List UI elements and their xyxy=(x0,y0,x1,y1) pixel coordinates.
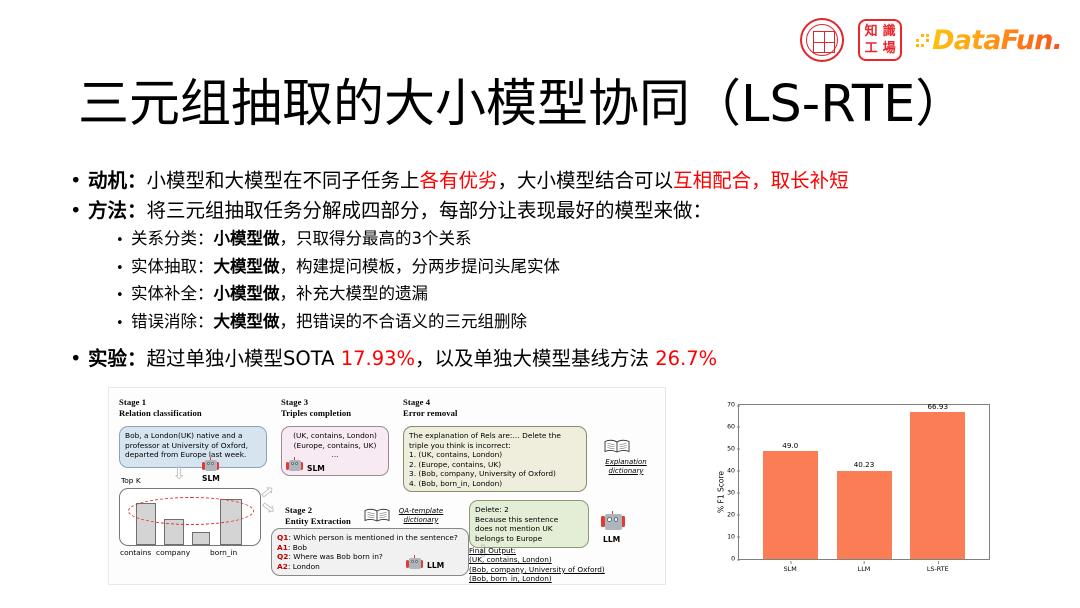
qa-dict-line2: dictionary xyxy=(392,516,450,525)
stage2-qa-0-text: Which person is mentioned in the sentenc… xyxy=(293,533,458,542)
sub-bullet-0-strong: 小模型做 xyxy=(214,229,280,248)
method-sub-list: •关系分类：小模型做，只取得分最高的3个关系 •实体抽取：大模型做，构建提问模板… xyxy=(116,226,1010,336)
qa-template-dictionary-caption: QA-template dictionary xyxy=(392,507,450,524)
stage3-title-line1: Stage 3 xyxy=(281,397,351,408)
bullet-motivation-lead: 动机： xyxy=(88,169,147,192)
chart-ytick-20: 20 xyxy=(727,511,735,518)
stage4-answer-box: Delete: 2 Because this sentence does not… xyxy=(469,500,589,548)
stage3-line-0: (UK, contains, London) xyxy=(287,431,383,441)
sub-bullet-dot-icon: • xyxy=(116,228,131,254)
chart-value-ls-rte: 66.93 xyxy=(927,402,948,411)
pipeline-diagram: Stage 1 Relation classification Bob, a L… xyxy=(108,387,666,585)
stage3-heading: Stage 3 Triples completion xyxy=(281,397,351,418)
chart-bar-ls-rte xyxy=(910,412,965,559)
f1-score-bar-chart: % F1 Score 0 10 20 30 40 50 60 70 49.0 4… xyxy=(694,396,1012,588)
explanation-book-icon xyxy=(604,439,630,454)
final-output-line-1: (Bob, company, University of Oxford) xyxy=(469,565,664,574)
stage3-title-line2: Triples completion xyxy=(281,408,351,419)
fudan-university-seal-icon xyxy=(800,18,844,62)
stage2-qa-2-tag: Q2 xyxy=(277,552,288,561)
page-title: 三元组抽取的大小模型协同（LS-RTE） xyxy=(78,62,966,136)
chart-ytick-60: 60 xyxy=(727,423,735,430)
explanation-dictionary-caption: Explanation dictionary xyxy=(596,458,656,475)
sub-bullet-dot-icon: • xyxy=(116,311,131,337)
zhishi-char-3: 工 xyxy=(865,42,878,55)
sub-bullet-1-strong: 大模型做 xyxy=(214,257,280,276)
bullet-method-seg-0: 将三元组抽取任务分解成四部分，每部分让表现最好的模型来做： xyxy=(147,199,713,222)
chart-xtick-ls-rte: LS-RTE xyxy=(927,565,949,573)
stage4-prompt-0: The explanation of Rels are:… Delete the xyxy=(409,431,581,441)
bullet-experiment-seg-1: 17.93% xyxy=(341,347,415,370)
chart-y-axis-label: % F1 Score xyxy=(717,471,726,513)
sub-bullet-2-strong: 小模型做 xyxy=(214,284,280,303)
stage4-prompt-4: 3. (Bob, company, University of Oxford) xyxy=(409,469,581,479)
bullet-method: •方法：将三元组抽取任务分解成四部分，每部分让表现最好的模型来做： xyxy=(70,196,1010,226)
stage3-slm-robot-icon xyxy=(286,458,303,473)
stage2-qa-1: A1: Bob xyxy=(277,543,463,553)
zhishi-gongchang-logo-icon: 知 識 工 場 xyxy=(858,19,902,61)
topk-bar-panel xyxy=(119,488,261,546)
sub-bullet-error-removal: •错误消除：大模型做，把错误的不合语义的三元组删除 xyxy=(116,309,1010,337)
sub-bullet-dot-icon: • xyxy=(116,256,131,282)
stage1-slm-label: SLM xyxy=(202,474,220,483)
stage1-heading: Stage 1 Relation classification xyxy=(119,397,202,418)
chart-bar-llm xyxy=(837,471,892,560)
sub-bullet-3-label: 错误消除： xyxy=(131,312,214,331)
stage2-heading: Stage 2 Entity Extraction xyxy=(285,505,351,526)
sub-bullet-2-label: 实体补全： xyxy=(131,284,214,303)
bullet-list: •动机：小模型和大模型在不同子任务上各有优劣，大小模型结合可以互相配合，取长补短… xyxy=(70,166,1010,374)
stage4-answer-0: Delete: 2 xyxy=(475,505,583,515)
final-output-title: Final Output: xyxy=(469,546,664,555)
bullet-motivation-seg-2: ，大小模型结合可以 xyxy=(498,169,674,192)
chart-bar-slm xyxy=(763,451,818,559)
explanation-dict-line2: dictionary xyxy=(596,467,656,476)
sub-bullet-relation-classification: •关系分类：小模型做，只取得分最高的3个关系 xyxy=(116,226,1010,254)
bullet-method-lead: 方法： xyxy=(88,199,147,222)
stage4-prompt-5: 4. (Bob, born_in, London) xyxy=(409,479,581,489)
stage4-answer-2: does not mention UK xyxy=(475,524,583,534)
sub-bullet-1-label: 实体抽取： xyxy=(131,257,214,276)
zhishi-char-1: 知 xyxy=(865,25,878,38)
topk-bar-small xyxy=(192,532,210,545)
final-output-line-2: (Bob, born_in, London) xyxy=(469,574,664,583)
stage2-qa-0-tag: Q1 xyxy=(277,533,288,542)
stage2-qa-1-tag: A1 xyxy=(277,543,288,552)
stage2-title-line1: Stage 2 xyxy=(285,505,351,516)
datafun-dots-icon xyxy=(916,34,929,47)
stage2-qa-2-text: Where was Bob born in? xyxy=(293,552,383,561)
stage1-slm-robot-icon xyxy=(202,458,219,473)
stage2-title-line2: Entity Extraction xyxy=(285,516,351,527)
sub-bullet-0-label: 关系分类： xyxy=(131,229,214,248)
zhishi-char-4: 場 xyxy=(883,42,896,55)
logo-row: 知 識 工 場 DataFun. xyxy=(800,18,1062,62)
bullet-experiment: •实验：超过单独小模型SOTA 17.93%，以及单独大模型基线方法 26.7% xyxy=(70,344,1010,374)
sub-bullet-1-rest: ，构建提问模板，分两步提问头尾实体 xyxy=(280,257,561,276)
topk-xlabel-born-in: born_in xyxy=(210,548,237,557)
stage4-prompt-2: 1. (UK, contains, London) xyxy=(409,450,581,460)
stage2-llm-label: LLM xyxy=(427,561,444,570)
sub-bullet-dot-icon: • xyxy=(116,283,131,309)
bullet-motivation-seg-1: 各有优劣 xyxy=(420,169,498,192)
chart-ytick-30: 30 xyxy=(727,489,735,496)
final-output-block: Final Output: (UK, contains, London) (Bo… xyxy=(469,546,664,584)
bullet-dot-icon: • xyxy=(70,196,88,226)
chart-xtick-slm: SLM xyxy=(784,565,797,573)
chart-plot-area: 0 10 20 30 40 50 60 70 49.0 40.23 66.93 … xyxy=(738,404,990,560)
stage4-answer-1: Because this sentence xyxy=(475,515,583,525)
chart-ytick-0: 0 xyxy=(731,556,735,563)
bullet-experiment-seg-3: 26.7% xyxy=(655,347,717,370)
zhishi-char-2: 識 xyxy=(883,25,896,38)
explanation-dict-line1: Explanation xyxy=(596,458,656,467)
bullet-experiment-seg-2: ，以及单独大模型基线方法 xyxy=(415,347,655,370)
sub-bullet-3-strong: 大模型做 xyxy=(214,312,280,331)
stage1-title-line1: Stage 1 xyxy=(119,397,202,408)
stage4-prompt-3: 2. (Europe, contains, UK) xyxy=(409,460,581,470)
stage4-title-line2: Error removal xyxy=(403,408,458,419)
bullet-dot-icon: • xyxy=(70,344,88,374)
bullet-motivation-seg-0: 小模型和大模型在不同子任务上 xyxy=(147,169,420,192)
chart-value-slm: 49.0 xyxy=(782,441,798,450)
qa-template-book-icon xyxy=(364,508,390,523)
sub-bullet-3-rest: ，把错误的不合语义的三元组删除 xyxy=(280,312,528,331)
stage4-prompt-box: The explanation of Rels are:… Delete the… xyxy=(403,426,587,492)
bullet-motivation: •动机：小模型和大模型在不同子任务上各有优劣，大小模型结合可以互相配合，取长补短 xyxy=(70,166,1010,196)
stage1-input-sentence: Bob, a London(UK) native and a professor… xyxy=(119,426,267,468)
stage3-slm-label: SLM xyxy=(307,464,325,473)
chart-ytick-70: 70 xyxy=(727,402,735,409)
stage4-heading: Stage 4 Error removal xyxy=(403,397,458,418)
bullet-motivation-seg-3: 互相配合，取长补短 xyxy=(673,169,849,192)
qa-dict-line1: QA-template xyxy=(392,507,450,516)
stage4-answer-3: belongs to Europe xyxy=(475,534,583,544)
datafun-logo-icon: DataFun. xyxy=(916,25,1062,56)
sub-bullet-2-rest: ，补充大模型的遗漏 xyxy=(280,284,429,303)
chart-value-llm: 40.23 xyxy=(854,460,875,469)
topk-label: Top K xyxy=(121,476,141,485)
chart-ytick-10: 10 xyxy=(727,533,735,540)
chart-xtick-llm: LLM xyxy=(858,565,871,573)
chart-ytick-40: 40 xyxy=(727,467,735,474)
stage2-qa-1-text: Bob xyxy=(293,543,307,552)
bullet-dot-icon: • xyxy=(70,166,88,196)
fudan-seal-core xyxy=(813,31,835,53)
stage1-down-arrow-icon: ⇩ xyxy=(172,466,186,483)
stage2-llm-robot-icon xyxy=(406,556,423,571)
topk-xlabel-company: company xyxy=(156,548,190,557)
stage2-qa-0: Q1: Which person is mentioned in the sen… xyxy=(277,533,463,543)
sub-bullet-0-rest: ，只取得分最高的3个关系 xyxy=(280,229,472,248)
sub-bullet-entity-completion: •实体补全：小模型做，补充大模型的遗漏 xyxy=(116,281,1010,309)
topk-selection-ellipse xyxy=(128,497,254,525)
stage1-title-line2: Relation classification xyxy=(119,408,202,419)
stage4-title-line1: Stage 4 xyxy=(403,397,458,408)
stage4-llm-label: LLM xyxy=(603,535,620,544)
sub-bullet-entity-extraction: •实体抽取：大模型做，构建提问模板，分两步提问头尾实体 xyxy=(116,254,1010,282)
stage2-qa-3-tag: A2 xyxy=(277,562,288,571)
stage3-line-1: (Europe, contains, UK) xyxy=(287,441,383,451)
stage4-prompt-1: triple you think is incorrect: xyxy=(409,441,581,451)
bullet-experiment-seg-0: 超过单独小模型SOTA xyxy=(147,347,341,370)
topk-xlabel-contains: contains xyxy=(120,548,151,557)
final-output-line-0: (UK, contains, London) xyxy=(469,555,664,564)
datafun-wordmark: DataFun. xyxy=(932,25,1062,56)
chart-ytick-50: 50 xyxy=(727,445,735,452)
stage2-qa-3-text: London xyxy=(293,562,320,571)
stage4-llm-robot-icon xyxy=(601,512,625,533)
bullet-experiment-lead: 实验： xyxy=(88,347,147,370)
